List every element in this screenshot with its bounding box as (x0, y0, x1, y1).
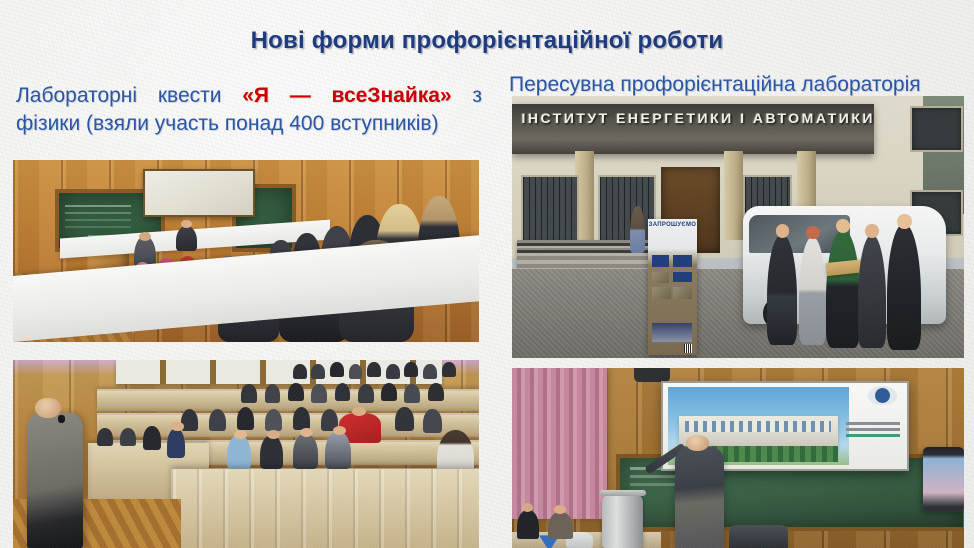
quest-name-highlight: «Я — всеЗнайка» (242, 84, 451, 107)
right-header-text: Пересувна профорієнтаційна лабораторія (509, 72, 969, 98)
person-group-1 (767, 235, 796, 345)
left-text-suffix: з (452, 84, 482, 107)
head-lecturer-standing (139, 232, 151, 241)
student-figure (237, 407, 255, 430)
student-figure (143, 426, 161, 450)
student-figure-front (260, 435, 283, 469)
head-student-front (267, 430, 280, 439)
column (724, 151, 743, 240)
head-group-1 (776, 224, 790, 238)
left-text-block: Лабораторні квести «Я — всеЗнайка» з фіз… (16, 82, 482, 138)
student-figure (404, 362, 418, 377)
student-figure (395, 407, 414, 431)
photo-mobile-lab-van: ІНСТИТУТ ЕНЕРГЕТИКИ І АВТОМАТИКИ (512, 96, 964, 358)
left-text-line2: фізики (взяли участь понад 400 вступникі… (16, 110, 482, 138)
student-figure (120, 428, 136, 447)
head-student (171, 422, 183, 431)
photo-3-scene (13, 360, 479, 548)
chalk-writing (65, 205, 131, 207)
person-at-door (630, 206, 645, 253)
banner-group-photo (652, 323, 693, 342)
student-figure (381, 383, 397, 402)
photo-2-scene: ІНСТИТУТ ЕНЕРГЕТИКИ І АВТОМАТИКИ (512, 96, 964, 358)
window-curtain (512, 368, 607, 519)
banner-photo (673, 287, 692, 299)
banner-block (673, 272, 692, 282)
slide-university-crest (868, 386, 897, 405)
chair-foreground (729, 525, 788, 548)
bench-foreground (171, 469, 479, 548)
lecturer-figure (675, 447, 725, 548)
lecturer-head (686, 435, 709, 451)
student-figure (311, 384, 327, 403)
student-figure (241, 384, 257, 403)
photo-4-scene (512, 368, 964, 548)
smartphone-recording (923, 447, 964, 512)
head-group-2 (806, 226, 820, 240)
person-group-4 (858, 235, 886, 348)
head-group-5 (897, 214, 912, 229)
presentation-slide: Нові форми профорієнтаційної роботи Лабо… (0, 0, 974, 548)
liquid-nitrogen-dewar (602, 494, 643, 548)
microphone-icon (58, 415, 65, 423)
student-figure (423, 409, 442, 433)
student-figure (404, 384, 420, 403)
student-figure (288, 383, 304, 402)
photo-lecturer-screen (512, 368, 964, 548)
person-seated-speaker (176, 226, 197, 251)
student-figure (265, 384, 281, 403)
student-figure (330, 362, 344, 377)
person-group-2 (799, 237, 826, 344)
student-figure (311, 364, 325, 379)
projection-screen (143, 169, 254, 217)
head-student-front (234, 430, 247, 439)
person-group-5 (887, 224, 921, 350)
photo-lecture-hall-screen (13, 160, 479, 342)
student-figure (209, 409, 227, 432)
student-figure (442, 362, 456, 377)
student-seated-left-2 (548, 512, 573, 539)
dewar-lid (600, 490, 646, 495)
upper-window (910, 106, 964, 152)
student-figure (97, 428, 113, 447)
banner-block (652, 255, 670, 267)
banner-photo (652, 287, 672, 299)
student-figure-front (227, 435, 250, 469)
building-sign-text: ІНСТИТУТ ЕНЕРГЕТИКИ І АВТОМАТИКИ (517, 105, 875, 131)
student-figure (386, 364, 400, 379)
banner-qr-code (684, 344, 692, 352)
slide-caption-lines (846, 422, 900, 425)
slide-building-windows (685, 421, 831, 432)
page-title: Нові форми профорієнтаційної роботи (0, 27, 974, 55)
window-grate (521, 175, 579, 247)
student-figure (293, 407, 311, 430)
student-figure (367, 362, 381, 377)
student-figure (358, 384, 374, 403)
photo-lecture-hall-crowd (13, 360, 479, 548)
student-figure (293, 364, 307, 379)
head-student-left-2 (554, 505, 565, 514)
speaker-head (35, 398, 60, 419)
left-text-prefix: Лабораторні квести (16, 84, 242, 107)
photo-1-scene (13, 160, 479, 342)
speaker-with-microphone (27, 413, 83, 548)
student-figure-front (325, 431, 351, 469)
student-figure-front (293, 433, 318, 469)
banner-block (673, 255, 692, 267)
student-seated-left (517, 510, 540, 539)
student-figure (265, 409, 283, 432)
left-text-line1: Лабораторні квести «Я — всеЗнайка» з (16, 82, 482, 110)
student-figure (349, 364, 363, 379)
student-figure (428, 383, 444, 402)
rollup-banner: ЗАПРОШУЄМО (648, 219, 698, 355)
head-group-4 (865, 224, 879, 238)
banner-photo (652, 272, 670, 283)
banner-heading-text: ЗАПРОШУЄМО (648, 222, 698, 228)
head-student-front (300, 428, 313, 437)
student-figure (423, 364, 437, 379)
